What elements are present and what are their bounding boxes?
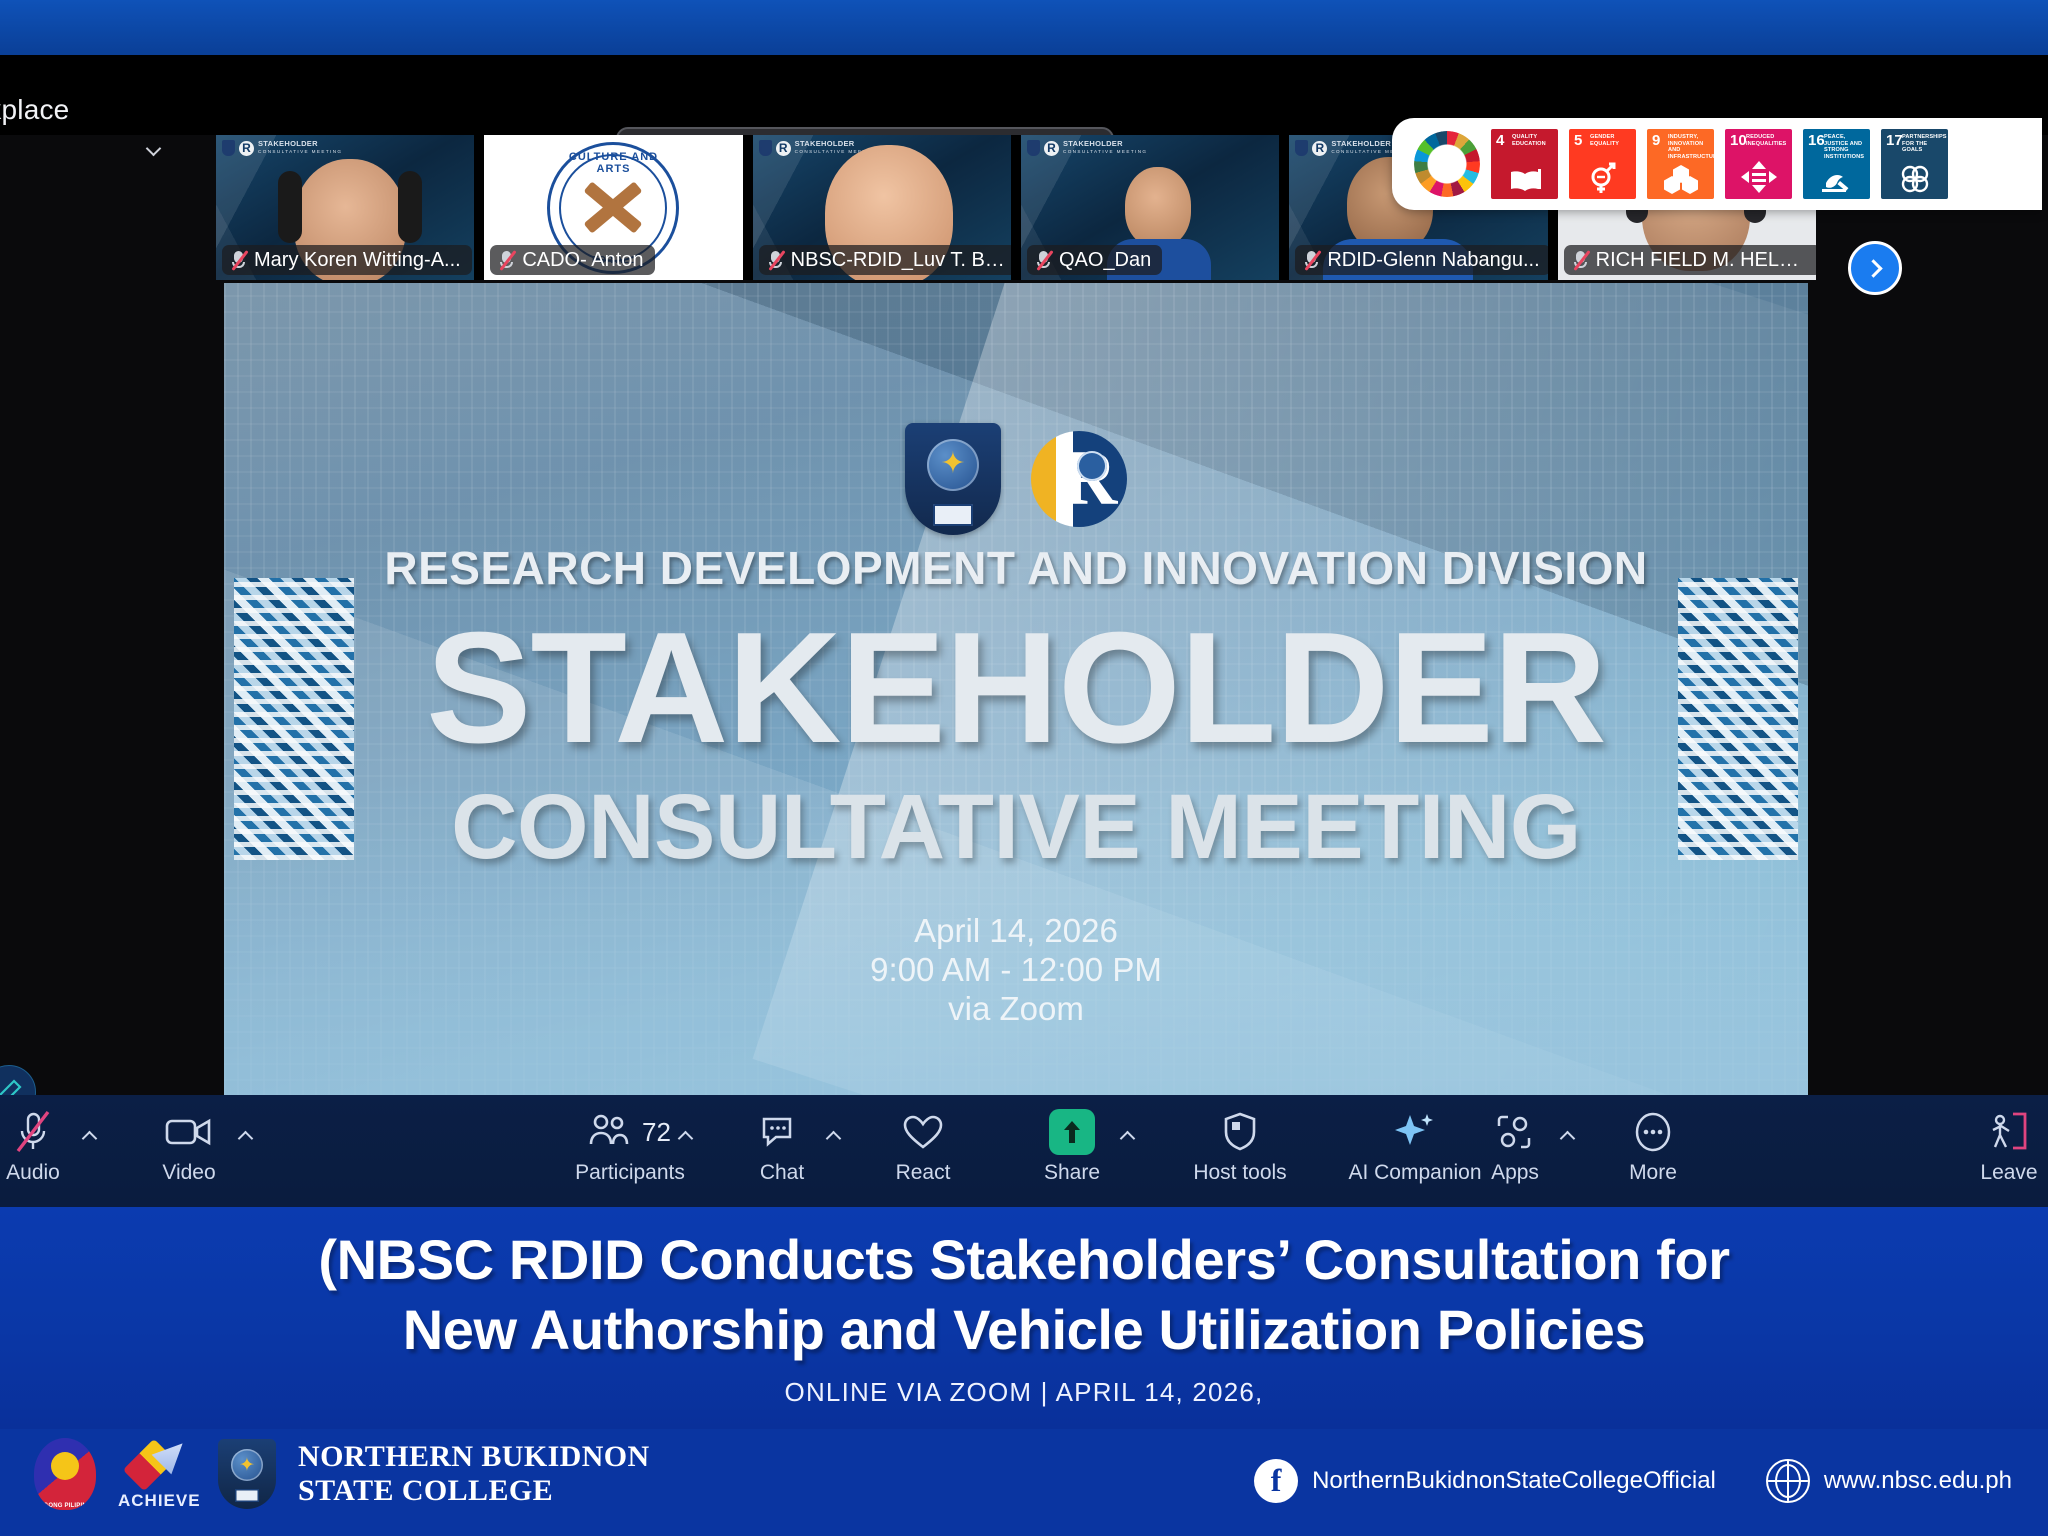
participant-tile[interactable]: R STAKEHOLDERCONSULTATIVE MEETING Mary K… [216,135,474,280]
globe-icon [1766,1459,1810,1503]
slide-heading: RESEARCH DEVELOPMENT AND INNOVATION DIVI… [224,541,1808,595]
participant-name: Mary Koren Witting-A... [254,249,461,272]
footer-logos: BAGONG PILIPINAS ACHIEVE ✦ NORTHERN BUKI… [34,1437,650,1511]
zoom-meeting-window: om orkplace Meeting RDID-Glenn Nabangue_… [0,55,2048,1095]
caption-banner: (NBSC RDID Conducts Stakeholders’ Consul… [0,1207,2048,1429]
sdg-title: REDUCED INEQUALITIES [1746,134,1789,147]
r-logo-icon: R [239,141,254,156]
slide-logos: ✦ R [224,423,1808,535]
participants-count: 72 [642,1117,671,1148]
participant-namebar: CADO- Anton [490,245,654,275]
toolbar-apps-button[interactable]: Apps [1450,1109,1580,1185]
college-name: NORTHERN BUKIDNON STATE COLLEGE [298,1440,650,1508]
microphone-muted-icon [1303,250,1320,271]
shield-icon [1222,1109,1258,1155]
book-icon [235,1489,259,1502]
book-icon [1507,168,1543,194]
microphone-muted-icon [12,1109,54,1155]
sdg-title: PEACE, JUSTICE AND STRONG INSTITUTIONS [1824,134,1867,160]
bird-icon: ✦ [239,1456,255,1475]
slide-time: 9:00 AM - 12:00 PM [224,950,1808,989]
facebook-contact[interactable]: f NorthernBukidnonStateCollegeOfficial [1254,1459,1716,1503]
toolbar-video-button[interactable]: Video [124,1109,254,1185]
globe-magnifier-icon [1077,451,1107,481]
microphone-muted-icon [230,250,247,271]
sdg-tile-16: 16 PEACE, JUSTICE AND STRONG INSTITUTION… [1803,129,1870,199]
slide-platform: via Zoom [224,989,1808,1028]
shared-screen-slide[interactable]: ✦ R RESEARCH DEVELOPMENT AND INNOVATION … [224,283,1808,1095]
top-blue-strip [0,0,2048,55]
workspace-dropdown-toggle[interactable] [148,141,174,167]
leave-door-icon [1987,1109,2031,1155]
audio-options-caret[interactable] [84,1131,106,1153]
slide-title: STAKEHOLDER [224,613,1808,763]
stakeholder-watermark: R STAKEHOLDERCONSULTATIVE MEETING [222,140,342,156]
microphone-muted-icon [498,250,515,271]
headset-left [278,171,302,243]
participant-name: CADO- Anton [522,249,643,272]
sdg-tile-9: 9 INDUSTRY, INNOVATION AND INFRASTRUCTUR… [1647,129,1714,199]
dove-gavel-icon [1820,168,1854,194]
chat-bubble-icon [760,1109,804,1155]
participant-namebar: NBSC-RDID_Luv T. Butil [759,245,1011,275]
book-icon [933,504,973,526]
college-name-line-1: NORTHERN BUKIDNON [298,1440,650,1474]
annotate-pen-icon [0,1077,24,1095]
circles-icon [1898,164,1932,194]
participant-name: NBSC-RDID_Luv T. Butil [791,249,1006,272]
seal-icon [1027,140,1040,156]
ellipsis-icon [1632,1109,1674,1155]
filmstrip-next-button[interactable] [1848,241,1902,295]
participant-namebar: Mary Koren Witting-A... [222,245,472,275]
apps-options-caret[interactable] [1562,1131,1584,1153]
facebook-handle: NorthernBukidnonStateCollegeOfficial [1312,1467,1716,1495]
sun-icon [51,1452,79,1480]
share-options-caret[interactable] [1122,1131,1144,1153]
chevron-right-icon [1864,259,1882,277]
watermark-text: STAKEHOLDERCONSULTATIVE MEETING [258,140,342,156]
website-url: www.nbsc.edu.ph [1824,1467,2012,1495]
microphone-muted-icon [1035,250,1052,271]
caption-line-2: New Authorship and Vehicle Utilization P… [0,1295,2048,1365]
participant-name: RICH FIELD M. HELARIO [1596,249,1811,272]
watermark-text: STAKEHOLDERCONSULTATIVE MEETING [1063,140,1147,156]
microphone-muted-icon [1572,250,1589,271]
chat-options-caret[interactable] [828,1131,850,1153]
chevron-down-icon [146,141,162,157]
sdg-number: 17 [1886,133,1903,148]
participant-tile[interactable]: CULTURE AND ARTS FOR ALL CADO- Anton [484,135,742,280]
toolbar-share-label: Share [1044,1161,1100,1185]
sparkle-icon [1393,1109,1437,1155]
sdg-number: 16 [1808,133,1825,148]
zoom-workplace-brand: om orkplace [0,65,69,125]
heart-icon [902,1109,944,1155]
r-logo-icon: R [776,141,791,156]
toolbar-audio-label: Audio [6,1161,60,1185]
toolbar-more-button[interactable]: More [1588,1109,1718,1185]
sdg-title: INDUSTRY, INNOVATION AND INFRASTRUCTURE [1668,134,1711,160]
participants-options-caret[interactable] [680,1131,702,1153]
footer-bar: BAGONG PILIPINAS ACHIEVE ✦ NORTHERN BUKI… [0,1429,2048,1536]
toolbar-leave-label: Leave [1980,1161,2037,1185]
brand-line-1: om [0,65,69,95]
sdg-title: QUALITY EDUCATION [1512,134,1555,147]
achieve-logo: ACHIEVE [118,1437,196,1511]
rdid-r-logo: R [1031,431,1127,527]
video-options-caret[interactable] [240,1131,262,1153]
participant-namebar: RDID-Glenn Nabangu... [1295,245,1547,275]
sdg-number: 4 [1496,133,1504,148]
sdg-color-wheel-icon [1414,131,1480,197]
website-contact[interactable]: www.nbsc.edu.ph [1766,1459,2012,1503]
sdg-goals-overlay: 4 QUALITY EDUCATION 5 GENDER EQUALITY [1392,118,2042,210]
video-face [1125,167,1191,247]
nbsc-seal-footer-logo: ✦ [218,1439,276,1509]
sdg-tile-10: 10 REDUCED INEQUALITIES [1725,129,1792,199]
bagong-caption: BAGONG PILIPINAS [34,1503,96,1509]
sdg-tile-5: 5 GENDER EQUALITY [1569,129,1636,199]
bird-icon: ✦ [940,449,965,479]
toolbar-video-label: Video [162,1161,215,1185]
seal-icon [222,140,235,156]
annotate-pen-button[interactable] [0,1065,36,1095]
toolbar-apps-label: Apps [1491,1161,1539,1185]
screen-root: om orkplace Meeting RDID-Glenn Nabangue_… [0,0,2048,1536]
cubes-icon [1663,164,1699,194]
caption-line-1: (NBSC RDID Conducts Stakeholders’ Consul… [0,1207,2048,1295]
participant-namebar: QAO_Dan [1027,245,1162,275]
participant-tile-active[interactable]: R STAKEHOLDERCONSULTATIVE MEETING NBSC-R… [753,135,1011,280]
participant-namebar: RICH FIELD M. HELARIO [1564,245,1816,275]
bagong-pilipinas-logo: BAGONG PILIPINAS [34,1438,96,1510]
slide-subtitle: CONSULTATIVE MEETING [224,781,1808,873]
participants-icon: 72 [589,1109,671,1155]
brand-line-2: orkplace [0,95,69,125]
toolbar-share-button[interactable]: Share [1007,1109,1137,1185]
r-logo-icon: R [1044,141,1059,156]
headset-right [398,171,422,243]
cado-logo-top-text: CULTURE AND ARTS [550,151,676,175]
seal-icon [1295,140,1308,156]
toolbar-chat-label: Chat [760,1161,804,1185]
achieve-caption: ACHIEVE [118,1491,196,1511]
meeting-toolbar: Audio Video 72 Par [0,1095,2048,1207]
equal-arrows-icon [1740,160,1778,194]
r-logo-icon: R [1312,141,1327,156]
participant-name: RDID-Glenn Nabangu... [1327,249,1539,272]
apps-icon [1493,1109,1537,1155]
slide-date: April 14, 2026 [224,911,1808,950]
sdg-number: 5 [1574,133,1582,148]
slide-meta: April 14, 2026 9:00 AM - 12:00 PM via Zo… [224,911,1808,1028]
camera-icon [165,1109,213,1155]
participant-name: QAO_Dan [1059,249,1151,272]
nbsc-seal-logo: ✦ [905,423,1001,535]
toolbar-react-label: React [896,1161,951,1185]
participant-tile[interactable]: R STAKEHOLDERCONSULTATIVE MEETING QAO_Da… [1021,135,1279,280]
microphone-muted-icon [767,250,784,271]
sdg-title: PARTNERSHIPS FOR THE GOALS [1902,134,1945,154]
share-screen-icon [1049,1109,1095,1155]
toolbar-leave-button[interactable]: Leave [1944,1109,2048,1185]
college-name-line-2: STATE COLLEGE [298,1474,650,1508]
caption-line-3: ONLINE VIA ZOOM | APRIL 14, 2026, [0,1365,2048,1408]
toolbar-react-button[interactable]: React [858,1109,988,1185]
sdg-title: GENDER EQUALITY [1590,134,1633,147]
toolbar-host-tools-label: Host tools [1193,1161,1286,1185]
footer-contacts: f NorthernBukidnonStateCollegeOfficial w… [1254,1459,2012,1503]
stakeholder-watermark: R STAKEHOLDERCONSULTATIVE MEETING [1027,140,1147,156]
facebook-icon: f [1254,1459,1298,1503]
sdg-tile-17: 17 PARTNERSHIPS FOR THE GOALS [1881,129,1948,199]
gender-equality-icon [1586,160,1620,194]
toolbar-participants-label: Participants [575,1161,685,1185]
toolbar-more-label: More [1629,1161,1677,1185]
sdg-number: 10 [1730,133,1747,148]
sdg-tile-4: 4 QUALITY EDUCATION [1491,129,1558,199]
seal-icon [759,140,772,156]
sdg-number: 9 [1652,133,1660,148]
